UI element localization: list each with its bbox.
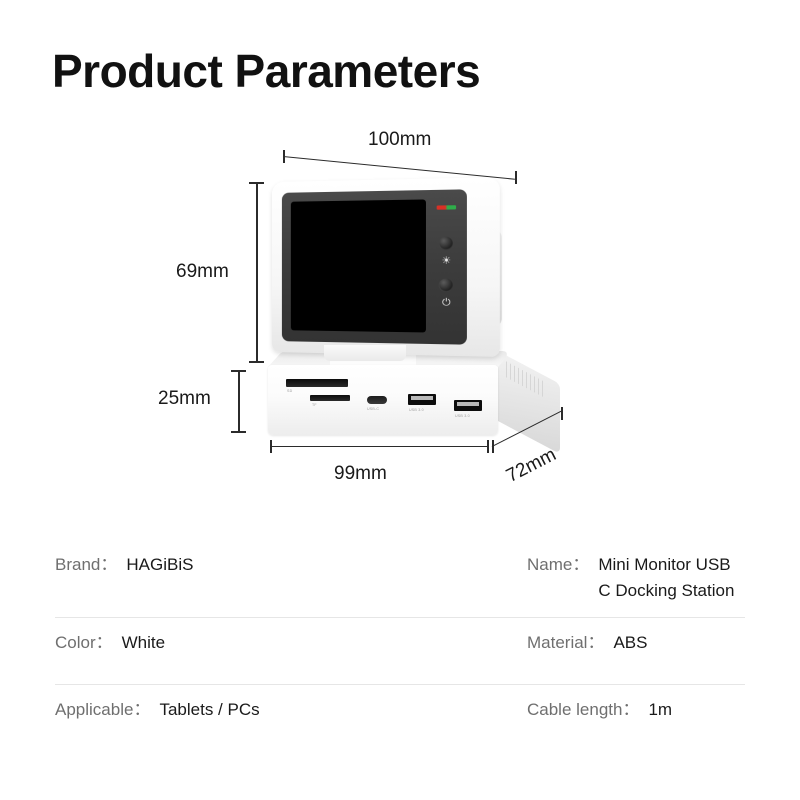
dimension-line-height-monitor bbox=[256, 182, 258, 362]
tf-card-slot bbox=[310, 395, 350, 401]
usb-a-port-2-label: USB 3.0 bbox=[455, 414, 470, 418]
spec-material-value: ABS bbox=[613, 630, 647, 656]
monitor-shell: ☀ ⏻ bbox=[272, 177, 500, 357]
dimension-cap-width-top-right bbox=[515, 171, 517, 184]
dock-vents bbox=[506, 361, 546, 398]
usb-a-port-1 bbox=[408, 394, 436, 405]
dock-front-panel: SD TF USB-C USB 3.0 USB 3.0 bbox=[268, 365, 498, 435]
sd-card-slot bbox=[286, 379, 348, 387]
spec-cable-length: Cable length： 1m bbox=[527, 695, 745, 723]
dock-base: SD TF USB-C USB 3.0 USB 3.0 bbox=[268, 365, 498, 435]
dimension-label-width-dock: 99mm bbox=[334, 463, 387, 485]
spec-cable-length-key: Cable length： bbox=[527, 695, 639, 720]
monitor-screen bbox=[291, 199, 426, 332]
spec-material-key: Material： bbox=[527, 628, 604, 653]
spec-applicable: Applicable： Tablets / PCs bbox=[55, 695, 527, 723]
spec-applicable-value: Tablets / PCs bbox=[159, 697, 259, 723]
table-row: Applicable： Tablets / PCs Cable length： … bbox=[55, 684, 745, 751]
status-led-icon bbox=[437, 205, 456, 209]
spec-brand-key: Brand： bbox=[55, 550, 117, 575]
spec-name-value: Mini Monitor USB C Docking Station bbox=[598, 552, 745, 605]
spec-color: Color： White bbox=[55, 628, 527, 656]
dimension-cap-height-dock-bottom bbox=[231, 431, 246, 433]
dimension-line-width-dock bbox=[270, 446, 488, 447]
dimension-label-height-dock: 25mm bbox=[158, 388, 211, 410]
sd-card-slot-label: SD bbox=[287, 389, 292, 393]
monitor-foot bbox=[324, 345, 406, 361]
usb-c-port bbox=[367, 396, 387, 404]
usb-a-port-1-tongue bbox=[411, 396, 433, 400]
usb-a-port-2 bbox=[454, 400, 482, 411]
table-row: Brand： HAGiBiS Name： Mini Monitor USB C … bbox=[55, 540, 745, 617]
dimension-line-height-dock bbox=[238, 370, 240, 432]
monitor-bezel: ☀ ⏻ bbox=[282, 189, 467, 344]
dimension-cap-height-monitor-bottom bbox=[249, 361, 264, 363]
spec-color-value: White bbox=[122, 630, 165, 656]
dimension-label-depth-dock: 72mm bbox=[503, 444, 560, 488]
dimension-label-width-top: 100mm bbox=[368, 129, 431, 151]
brightness-icon: ☀ bbox=[440, 255, 453, 268]
dimension-cap-depth-dock-left bbox=[492, 440, 494, 453]
usb-a-port-1-label: USB 3.0 bbox=[409, 408, 424, 412]
spec-name-key: Name： bbox=[527, 550, 589, 575]
dimension-cap-depth-dock-right bbox=[561, 407, 563, 420]
dimension-cap-height-dock-top bbox=[231, 370, 246, 372]
table-row: Color： White Material： ABS bbox=[55, 617, 745, 684]
page-title: Product Parameters bbox=[52, 44, 480, 98]
spec-name: Name： Mini Monitor USB C Docking Station bbox=[527, 550, 745, 605]
monitor-control-strip: ☀ ⏻ bbox=[432, 199, 464, 335]
spec-brand: Brand： HAGiBiS bbox=[55, 550, 527, 578]
dimension-cap-width-dock-right bbox=[487, 440, 489, 453]
tf-card-slot-label: TF bbox=[312, 403, 317, 407]
dimension-cap-width-top-left bbox=[283, 150, 285, 163]
power-button[interactable] bbox=[439, 278, 453, 292]
dimension-label-height-monitor: 69mm bbox=[176, 261, 229, 283]
spec-material: Material： ABS bbox=[527, 628, 745, 656]
spec-cable-length-value: 1m bbox=[648, 697, 672, 723]
brightness-button[interactable] bbox=[439, 237, 453, 251]
spec-brand-value: HAGiBiS bbox=[126, 552, 193, 578]
product-illustration: 100mm 69mm 25mm SD TF USB-C USB 3.0 bbox=[0, 120, 800, 510]
product-parameters-table: Brand： HAGiBiS Name： Mini Monitor USB C … bbox=[55, 540, 745, 751]
dimension-cap-width-dock-left bbox=[270, 440, 272, 453]
mini-monitor: ☀ ⏻ bbox=[272, 182, 490, 352]
dimension-cap-height-monitor-top bbox=[249, 182, 264, 184]
usb-c-port-label: USB-C bbox=[367, 407, 379, 411]
spec-color-key: Color： bbox=[55, 628, 113, 653]
spec-applicable-key: Applicable： bbox=[55, 695, 150, 720]
power-icon: ⏻ bbox=[440, 297, 453, 310]
usb-a-port-2-tongue bbox=[457, 402, 479, 406]
